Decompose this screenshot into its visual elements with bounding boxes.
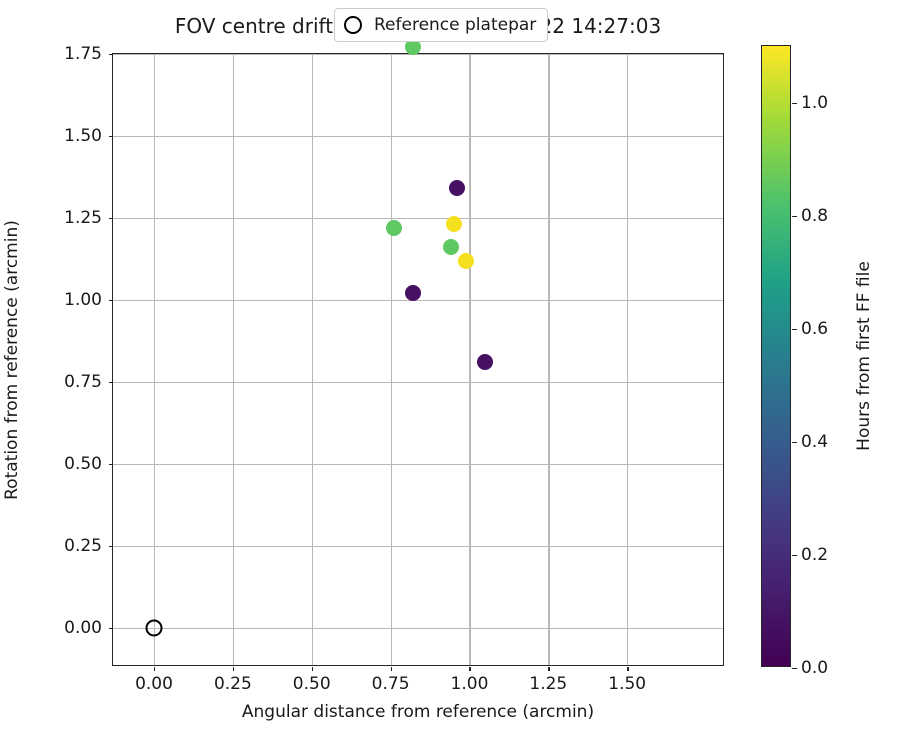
y-gridline <box>113 628 723 629</box>
x-tick <box>312 667 313 671</box>
x-gridline <box>391 54 392 665</box>
y-tick-label: 0.00 <box>64 618 102 638</box>
x-tick <box>548 667 549 671</box>
y-gridline <box>113 54 723 55</box>
y-tick-label: 1.50 <box>64 126 102 146</box>
x-gridline <box>469 54 470 665</box>
x-gridline <box>154 54 155 665</box>
y-tick-label: 1.00 <box>64 290 102 310</box>
y-gridline <box>113 546 723 547</box>
x-tick-label: 1.25 <box>529 674 567 694</box>
y-tick <box>109 628 113 629</box>
colorbar: 0.00.20.40.60.81.0 <box>761 45 791 667</box>
y-tick-label: 1.75 <box>64 44 102 64</box>
colorbar-tick <box>792 216 797 217</box>
colorbar-tick <box>792 555 797 556</box>
y-tick <box>109 546 113 547</box>
x-tick-label: 0.00 <box>135 674 173 694</box>
colorbar-tick-label: 0.8 <box>801 206 828 226</box>
legend-open-circle-icon <box>344 16 362 34</box>
x-gridline <box>627 54 628 665</box>
colorbar-tick-label: 0.2 <box>801 545 828 565</box>
data-point <box>443 239 459 255</box>
x-tick-label: 0.50 <box>293 674 331 694</box>
y-axis-label: Rotation from reference (arcmin) <box>2 220 22 500</box>
y-gridline <box>113 218 723 219</box>
data-point <box>446 216 462 232</box>
y-gridline <box>113 464 723 465</box>
colorbar-tick-label: 1.0 <box>801 93 828 113</box>
y-tick-label: 0.25 <box>64 536 102 556</box>
x-tick-label: 1.00 <box>451 674 489 694</box>
x-tick <box>154 667 155 671</box>
colorbar-tick-label: 0.4 <box>801 432 828 452</box>
colorbar-tick <box>792 329 797 330</box>
colorbar-tick-label: 0.0 <box>801 658 828 678</box>
x-tick-label: 1.50 <box>608 674 646 694</box>
reference-platepar-marker <box>146 619 163 636</box>
y-tick <box>109 464 113 465</box>
y-tick-label: 0.50 <box>64 454 102 474</box>
x-tick-label: 0.25 <box>214 674 252 694</box>
x-gridline <box>233 54 234 665</box>
data-point <box>477 354 493 370</box>
y-axis-label-wrap: Rotation from reference (arcmin) <box>0 53 24 666</box>
legend: Reference platepar <box>334 8 548 42</box>
colorbar-tick <box>792 442 797 443</box>
x-tick <box>233 667 234 671</box>
y-tick-label: 0.75 <box>64 372 102 392</box>
x-tick <box>627 667 628 671</box>
colorbar-tick <box>792 668 797 669</box>
y-tick-label: 1.25 <box>64 208 102 228</box>
y-tick <box>109 300 113 301</box>
data-point <box>449 180 465 196</box>
y-tick <box>109 382 113 383</box>
y-gridline <box>113 382 723 383</box>
y-tick <box>109 136 113 137</box>
data-point <box>458 253 474 269</box>
y-gridline <box>113 136 723 137</box>
x-axis-label: Angular distance from reference (arcmin) <box>112 702 724 722</box>
colorbar-label: Hours from first FF file <box>854 261 874 451</box>
data-point <box>405 285 421 301</box>
x-gridline <box>548 54 549 665</box>
colorbar-label-wrap: Hours from first FF file <box>852 45 876 667</box>
legend-label: Reference platepar <box>374 15 536 35</box>
x-gridline <box>312 54 313 665</box>
x-tick <box>391 667 392 671</box>
colorbar-tick-label: 0.6 <box>801 319 828 339</box>
y-tick <box>109 54 113 55</box>
x-tick-label: 0.75 <box>372 674 410 694</box>
data-point <box>386 220 402 236</box>
colorbar-tick <box>792 103 797 104</box>
plot-axes: 0.000.250.500.751.001.251.500.000.250.50… <box>112 53 724 666</box>
y-tick <box>109 218 113 219</box>
figure-canvas: FOV centre drift starting at 2025/11/22 … <box>0 0 900 750</box>
x-tick <box>469 667 470 671</box>
y-gridline <box>113 300 723 301</box>
